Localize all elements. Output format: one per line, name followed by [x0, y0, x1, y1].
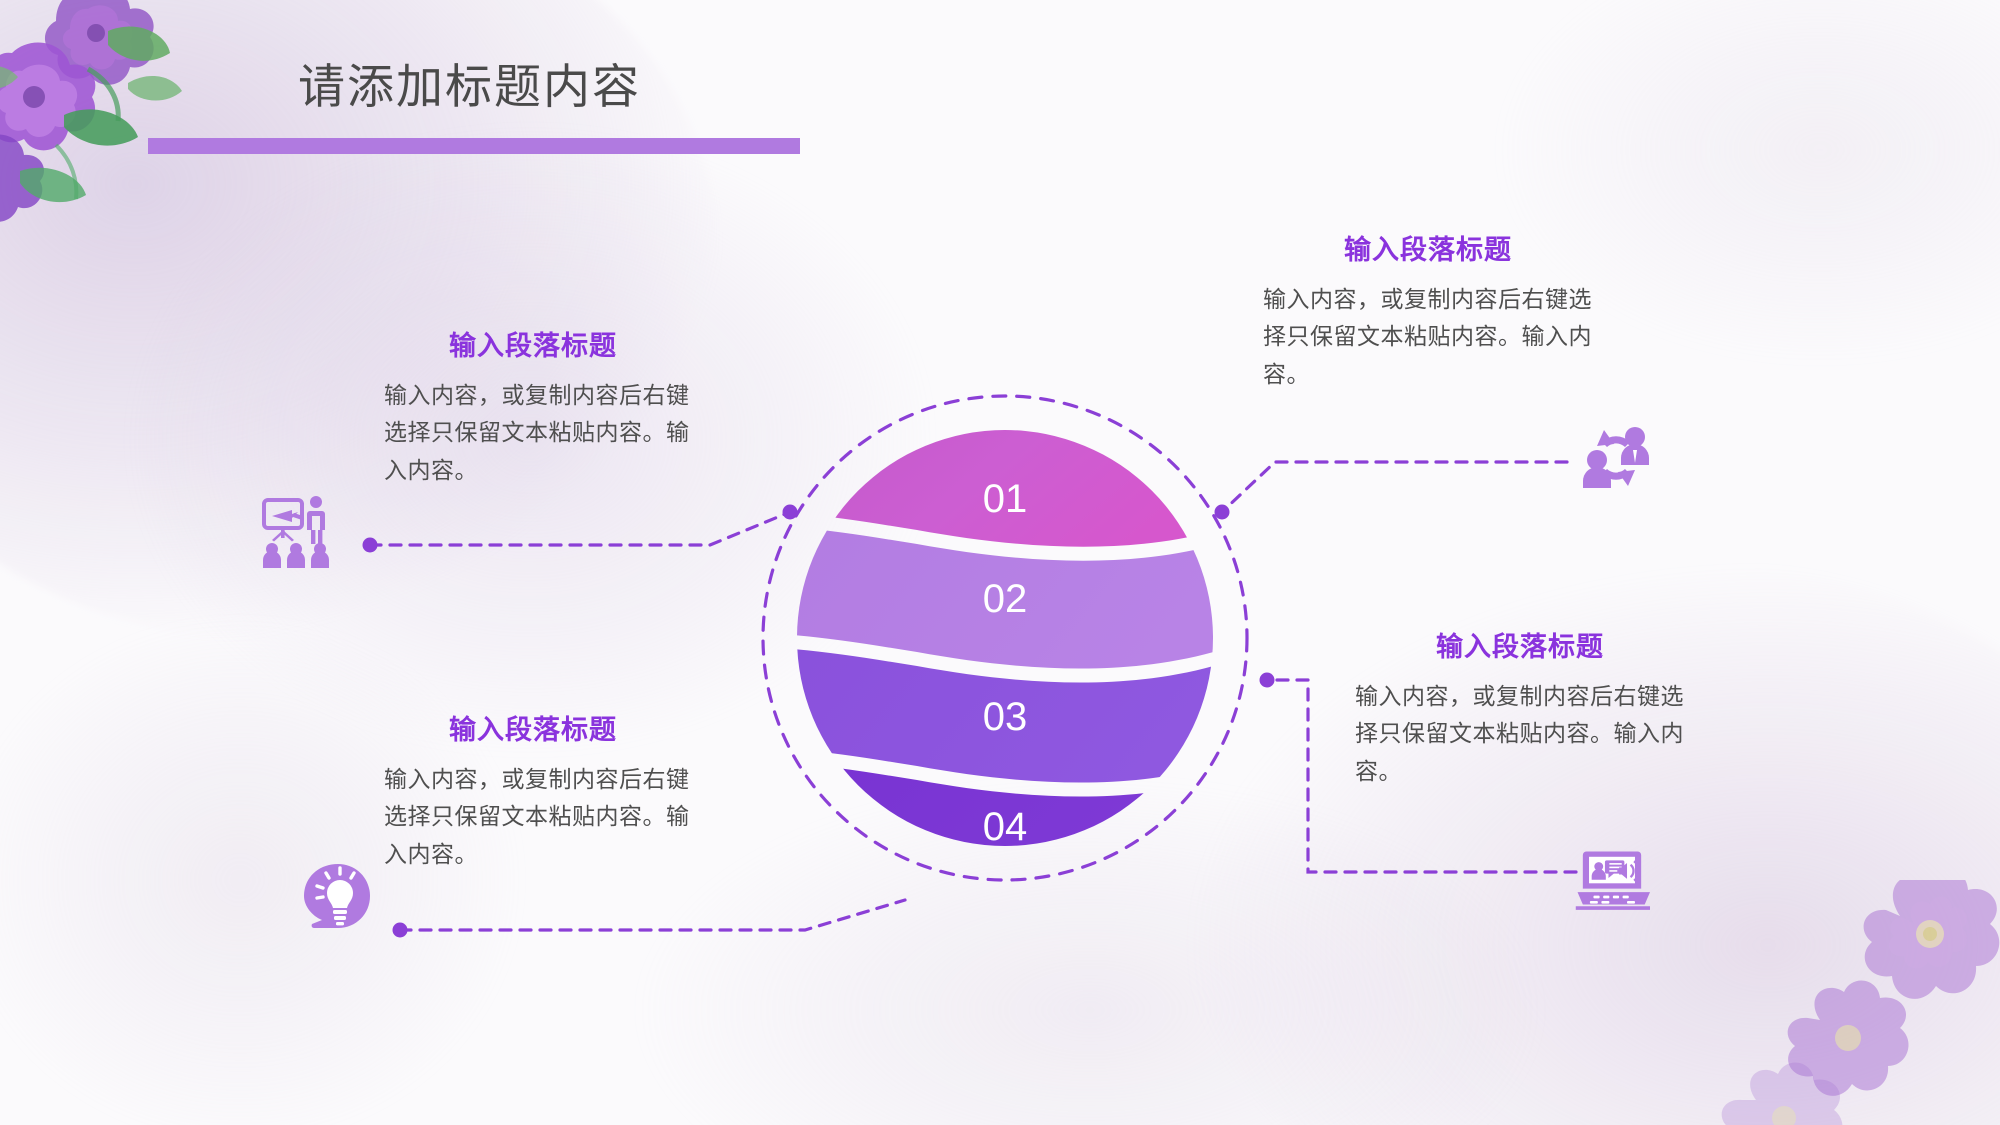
- connector-path-2: [1222, 462, 1567, 512]
- slide-canvas: 请添加标题内容: [0, 0, 2000, 1125]
- info-block-4-body: 输入内容，或复制内容后右键选择只保留文本粘贴内容。输入内容。: [1355, 678, 1685, 790]
- info-block-4-heading: 输入段落标题: [1355, 625, 1685, 664]
- connector-path-3: [400, 900, 905, 930]
- flower-decoration-bottom: [1660, 1040, 1960, 1125]
- info-block-1-body: 输入内容，或复制内容后右键选择只保留文本粘贴内容。输入内容。: [368, 377, 698, 489]
- title-underline-bar: [148, 138, 800, 154]
- flower-decoration-bottom-right: [1780, 880, 2000, 1125]
- info-block-4: 输入段落标题 输入内容，或复制内容后右键选择只保留文本粘贴内容。输入内容。: [1355, 625, 1685, 790]
- sphere-diagram: 01 02 03 04: [755, 388, 1255, 888]
- people-exchange-icon: [1578, 420, 1654, 496]
- info-block-2: 输入段落标题 输入内容，或复制内容后右键选择只保留文本粘贴内容。输入内容。: [1263, 228, 1593, 393]
- presentation-audience-icon: [258, 492, 334, 568]
- sphere-label-02: 02: [983, 577, 1028, 621]
- info-block-3-body: 输入内容，或复制内容后右键选择只保留文本粘贴内容。输入内容。: [368, 761, 698, 873]
- info-block-2-body: 输入内容，或复制内容后右键选择只保留文本粘贴内容。输入内容。: [1263, 281, 1593, 393]
- sphere-segments: 01 02 03 04: [797, 430, 1213, 846]
- info-block-2-heading: 输入段落标题: [1263, 228, 1593, 267]
- head-lightbulb-icon: [298, 858, 374, 934]
- info-block-3: 输入段落标题 输入内容，或复制内容后右键选择只保留文本粘贴内容。输入内容。: [368, 708, 698, 873]
- connector-dot-4: [1260, 673, 1275, 688]
- laptop-chat-icon: [1574, 840, 1650, 916]
- page-title: 请添加标题内容: [298, 48, 641, 117]
- info-block-3-heading: 输入段落标题: [368, 708, 698, 747]
- connector-path-1: [370, 512, 790, 545]
- info-block-1: 输入段落标题 输入内容，或复制内容后右键选择只保留文本粘贴内容。输入内容。: [368, 324, 698, 489]
- sphere-label-01: 01: [983, 477, 1028, 521]
- sphere-label-04: 04: [983, 805, 1028, 846]
- connector-dot-1: [363, 538, 378, 553]
- sphere-label-03: 03: [983, 695, 1028, 739]
- connector-dot-3: [393, 923, 408, 938]
- info-block-1-heading: 输入段落标题: [368, 324, 698, 363]
